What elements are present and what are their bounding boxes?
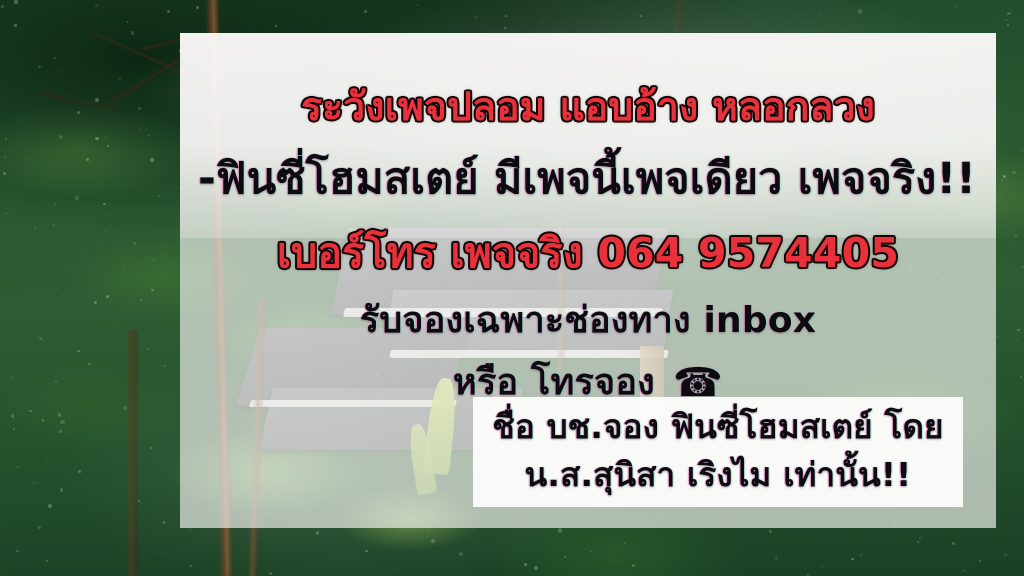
tree-branch-icon bbox=[109, 56, 184, 103]
tree-branch-icon bbox=[41, 92, 118, 111]
owner-box-line-2: น.ส.สุนิสา เริงไม เท่านั้น!! bbox=[473, 458, 963, 491]
headline-warning-text: ระวังเพจปลอม แอบอ้าง หลอกลวง bbox=[180, 88, 996, 127]
tree-trunk bbox=[126, 330, 138, 576]
owner-info-box: ชื่อ บช.จอง ฟินซี่โฮมสเตย์ โดย น.ส.สุนิส… bbox=[473, 397, 963, 507]
phone-line-text: เบอร์โทร เพจจริง 064 9574405 bbox=[180, 233, 996, 274]
owner-box-line-1: ชื่อ บช.จอง ฟินซี่โฮมสเตย์ โดย bbox=[473, 410, 963, 443]
banner-canvas: ระวังเพจปลอม แอบอ้าง หลอกลวง -ฟินซี่โฮมส… bbox=[0, 0, 1024, 576]
booking-channel-text: รับจองเฉพาะช่องทาง inbox bbox=[180, 303, 996, 339]
page-claim-text: -ฟินซี่โฮมสเตย์ มีเพจนี้เพจเดียว เพจจริง… bbox=[180, 158, 996, 201]
